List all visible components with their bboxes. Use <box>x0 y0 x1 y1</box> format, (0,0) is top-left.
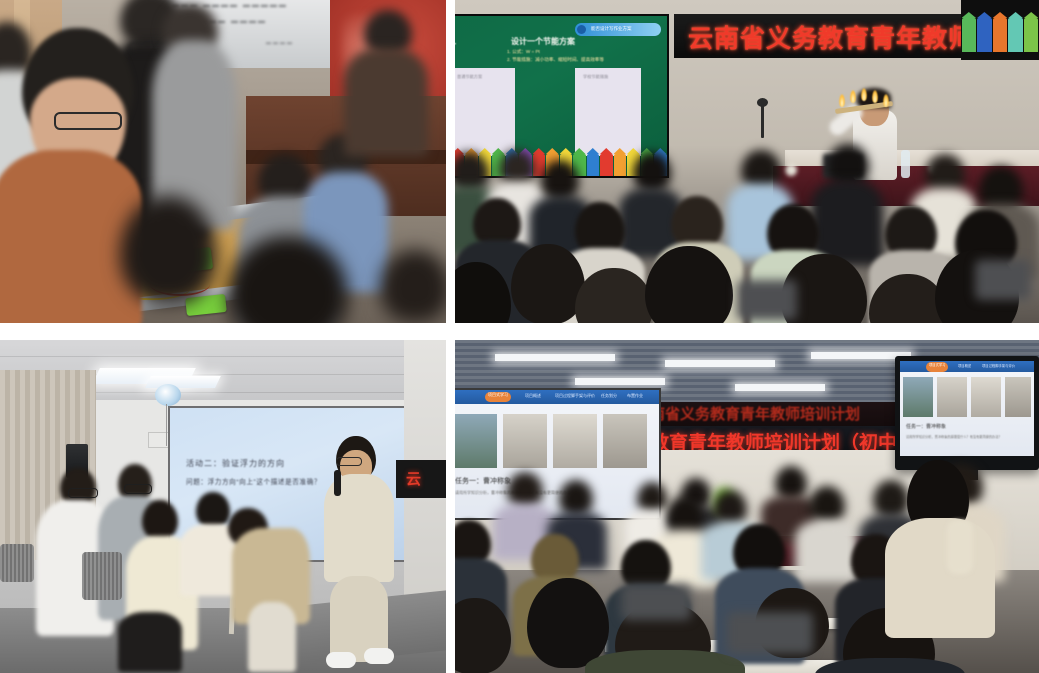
eyeglasses <box>68 488 98 498</box>
ceiling-light <box>575 378 665 385</box>
tv-slide-nav-item: 项目概述 <box>958 363 971 368</box>
photo-collage: ▬▬▬ ▬▬▬▬ ▬▬▬▬▬ ▬▬▬▬▬▬▬ ▬▬▬▬ ▬▬▬▬ <box>0 0 1039 673</box>
audience-head <box>507 472 543 508</box>
audience-head <box>667 496 703 534</box>
candle-flame <box>872 90 878 103</box>
person-head <box>196 492 230 528</box>
slide-line-1: 活动二：验证浮力的方向 <box>186 458 285 469</box>
tv-slide-task-subtitle: 请用所学知识分析，曹冲称象的原理是什么？有没有更简便的办法？ <box>906 434 1002 439</box>
standing-person-body <box>885 518 995 638</box>
wall-mounted-tv: 项目式学习 项目概述 项目过程脚手架与评价 任务一：曹冲称象 请用所学知识分析，… <box>895 356 1039 470</box>
classroom-circuit-activity-photo: ▬▬▬ ▬▬▬▬ ▬▬▬▬▬ ▬▬▬▬▬▬▬ ▬▬▬▬ ▬▬▬▬ <box>0 0 446 323</box>
slide-pane-left-label: 普通节能方案 <box>457 74 482 80</box>
lecture-hall-presentation-photo: 云南省义务教育青年教师培训计 计 设计一个节能方案 1. 公式：W = Pt 2… <box>455 0 1039 323</box>
shoe <box>364 648 394 664</box>
led-sign-text: 云 <box>406 468 421 489</box>
slide-image <box>503 414 547 468</box>
slide-task-title: 任务一：曹冲称象 <box>455 476 511 486</box>
audience-head <box>559 480 593 516</box>
candle-flame <box>839 94 845 107</box>
slide-nav-item: 布置作业 <box>627 393 643 399</box>
chair-back <box>82 552 122 600</box>
corner-pencil-icons <box>961 18 1039 52</box>
chair-back <box>975 260 1031 300</box>
tv-slide-nav-bar: 项目式学习 项目概述 项目过程脚手架与评价 <box>900 361 1034 372</box>
led-sign: 云 <box>396 460 446 498</box>
badge-dot-icon <box>577 25 586 34</box>
panel-bottom-right: 云南省义务教育青年教师培训计划 云南省义务教育青年教师培训计划（初中 项目式学习… <box>455 340 1039 673</box>
training-plan-lecture-photo: 云南省义务教育青年教师培训计划 云南省义务教育青年教师培训计划（初中 项目式学习… <box>455 340 1039 673</box>
tv-slide-task-title: 任务一：曹冲称象 <box>906 423 946 430</box>
candle-flame <box>850 90 856 103</box>
panel-top-left: ▬▬▬ ▬▬▬▬ ▬▬▬▬▬ ▬▬▬▬▬▬▬ ▬▬▬▬ ▬▬▬▬ <box>0 0 446 323</box>
person-body <box>344 48 428 156</box>
slide-bullet-1: 1. 公式：W = Pt <box>507 49 540 55</box>
tv-slide-image <box>903 377 933 417</box>
panel-bottom-left: 活动二：验证浮力的方向 问题：浮力方向“向上”这个描述是否准确？ 云 <box>0 340 446 673</box>
eyeglasses <box>54 112 122 130</box>
person-head-seated <box>142 500 178 540</box>
slide-nav-item: 任务划分 <box>601 393 617 399</box>
ceiling-light <box>495 354 615 361</box>
audience-body <box>795 520 859 582</box>
audience-head <box>873 480 909 518</box>
arm <box>947 520 973 574</box>
slide-line-2: 问题：浮力方向“向上”这个描述是否准确？ <box>186 476 321 486</box>
hanging-globe-lamp <box>155 384 181 406</box>
audience-head <box>541 160 579 200</box>
corner-decoration-box <box>961 0 1039 60</box>
tv-screen-content: 项目式学习 项目概述 项目过程脚手架与评价 任务一：曹冲称象 请用所学知识分析，… <box>900 361 1034 456</box>
person-body-foreground <box>0 150 142 323</box>
chair-back <box>0 544 34 582</box>
panelist-head <box>775 466 807 500</box>
person-lower-body <box>118 612 182 672</box>
tv-slide-nav-item: 项目过程脚手架与评价 <box>982 363 1015 368</box>
microphone <box>334 470 341 496</box>
led-banner-back-text: 云南省义务教育青年教师培训计划 <box>635 403 860 424</box>
audience <box>455 150 1039 323</box>
candle-flame <box>883 94 889 107</box>
slide-badge: 能否设计写作业方案 <box>575 23 661 36</box>
person-head <box>380 250 446 322</box>
buoyancy-experiment-photo: 活动二：验证浮力的方向 问题：浮力方向“向上”这个描述是否准确？ 云 <box>0 340 446 673</box>
slide-image <box>455 414 497 468</box>
eyeglasses <box>124 484 152 494</box>
panel-top-right: 云南省义务教育青年教师培训计 计 设计一个节能方案 1. 公式：W = Pt 2… <box>455 0 1039 323</box>
slide-image <box>553 414 597 468</box>
slide-pane-right-label: 学校节能措施 <box>583 74 608 80</box>
chair-back <box>621 584 691 620</box>
ceiling-light <box>735 384 825 391</box>
slide-pane-left: 普通节能方案 <box>455 68 515 156</box>
slide-nav-item: 项目概述 <box>525 393 541 399</box>
eyeglasses <box>336 457 362 466</box>
audience-head <box>499 150 535 186</box>
slide-bullet-2: 2. 节能措施：减小功率、缩短时间、提高效率等 <box>507 57 604 63</box>
slide-nav-item: 项目过程脚手架与评价 <box>555 393 595 399</box>
slide-nav-bar: 项目式学习 项目概述 项目过程脚手架与评价 任务划分 布置作业 <box>455 390 659 404</box>
tv-slide-image <box>1005 377 1031 417</box>
slide-pane-right: 学校节能措施 <box>575 68 641 156</box>
audience-head <box>809 486 845 524</box>
chair-back <box>727 612 813 654</box>
microphone-head-icon <box>757 98 768 107</box>
slide-title: 设计一个节能方案 <box>511 36 575 47</box>
tv-slide-nav-active: 项目式学习 <box>926 362 948 372</box>
shoe <box>326 652 356 668</box>
audience-head-foreground <box>511 244 585 323</box>
audience-body-foreground <box>585 650 745 673</box>
audience-head <box>713 490 747 526</box>
audience-head <box>633 152 671 192</box>
slide-nav-active: 项目式学习 <box>485 392 511 402</box>
ceiling-light <box>145 376 221 388</box>
audience-head-foreground <box>527 578 609 668</box>
candle-flame <box>861 88 867 101</box>
slide-image <box>603 414 647 468</box>
tv-slide-image <box>937 377 967 417</box>
slide-badge-text: 能否设计写作业方案 <box>591 26 632 32</box>
ceiling-light <box>665 360 775 367</box>
person-head <box>120 196 216 304</box>
ceiling-line <box>0 356 446 357</box>
microphone <box>761 104 764 138</box>
chair-back <box>737 280 797 320</box>
tv-slide-image <box>971 377 1001 417</box>
person-legs <box>248 602 296 672</box>
lamp-cord <box>166 404 167 446</box>
